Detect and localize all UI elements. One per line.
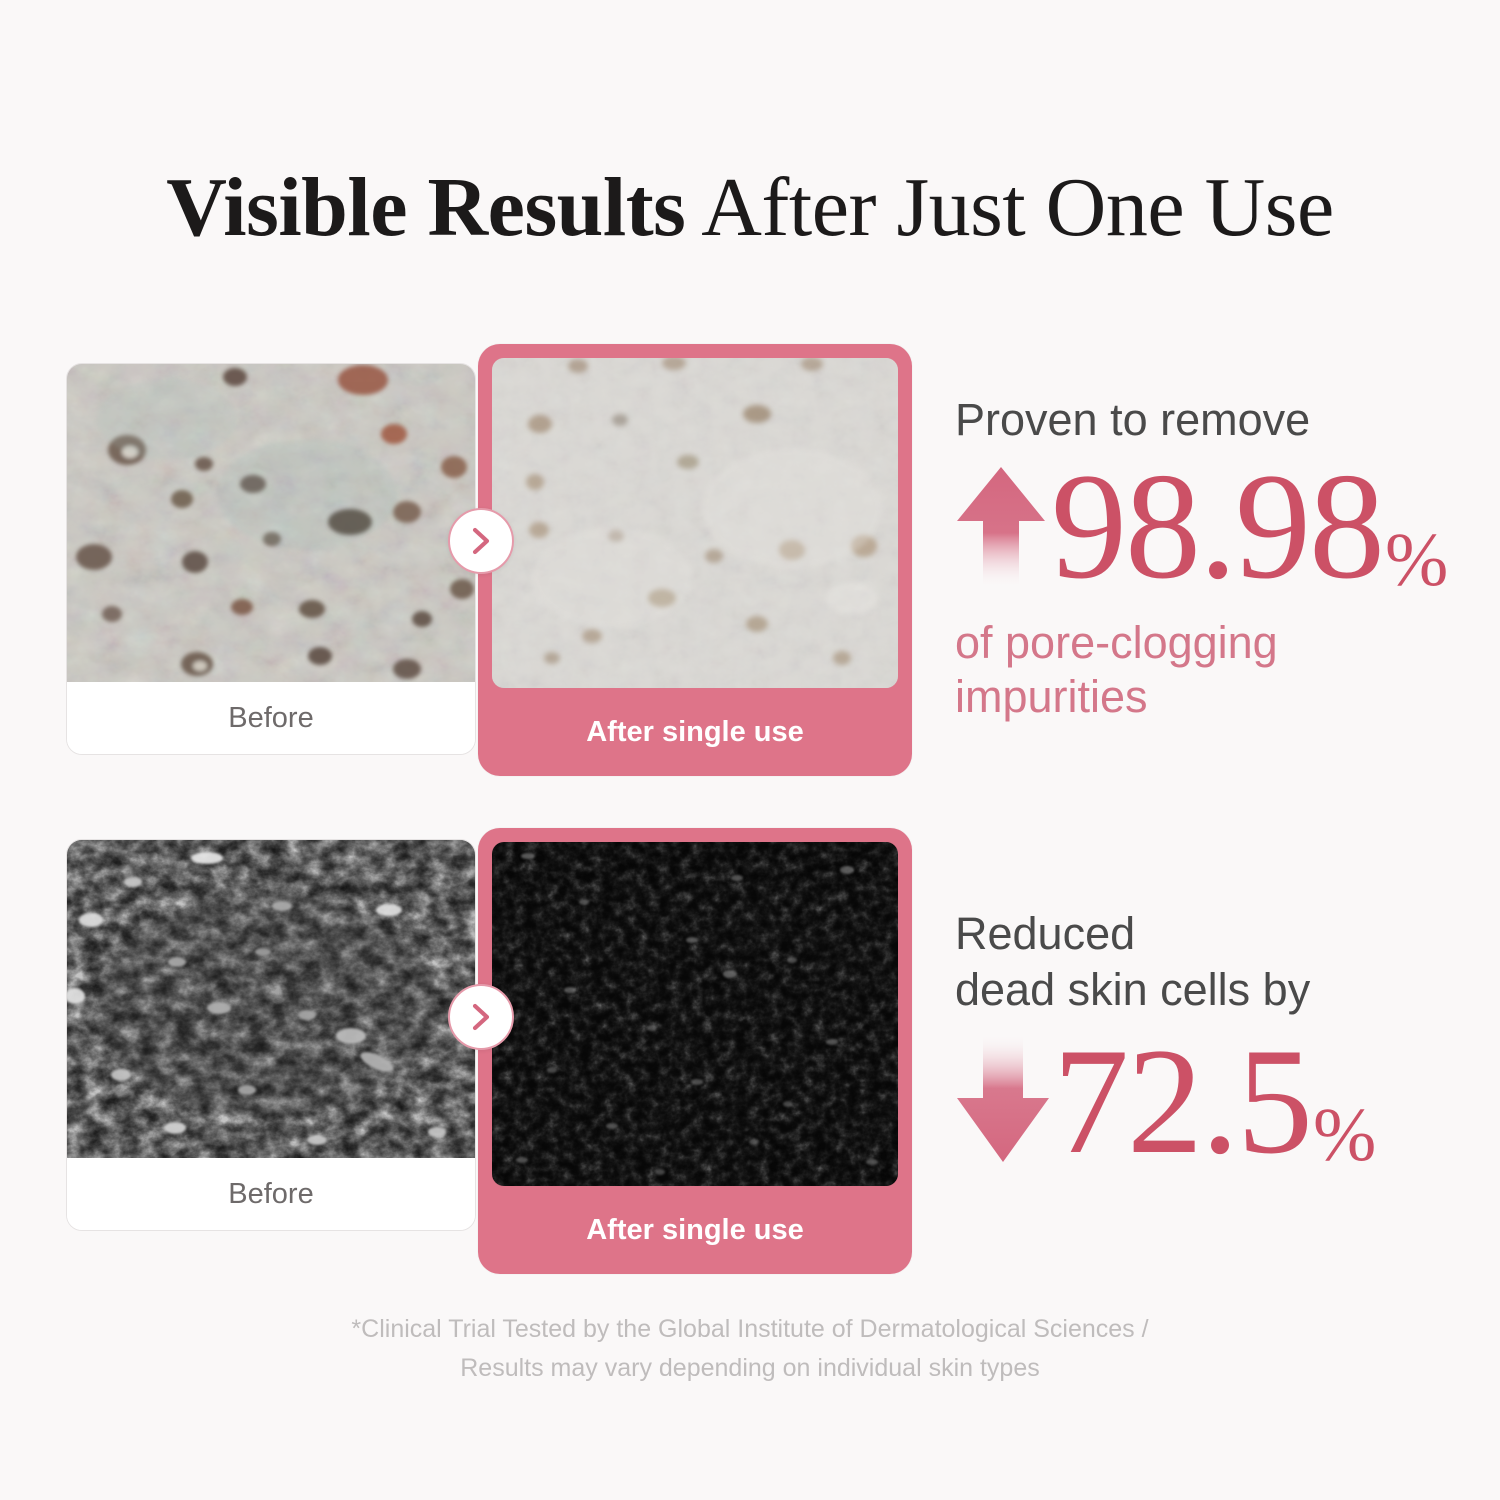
before-photo-1 [67, 364, 475, 684]
after-caption-1: After single use [478, 688, 912, 776]
before-card-1: Before [66, 363, 476, 755]
arrow-up-glyph [955, 465, 1047, 589]
infographic-root: Visible Results After Just One Use [0, 0, 1500, 1500]
stat-1-sub: of pore-clogging impurities [955, 616, 1465, 726]
stat-1-figure-row: 98.98 % [955, 460, 1465, 594]
stat-2-lead: Reduced dead skin cells by [955, 906, 1465, 1018]
stat-block-2: Reduced dead skin cells by 72.5 % [955, 906, 1465, 1169]
before-caption-2: Before [67, 1158, 475, 1230]
page-title: Visible Results After Just One Use [0, 165, 1500, 251]
before-caption-1: Before [67, 682, 475, 754]
after-photo-1 [492, 358, 898, 688]
stat-1-lead: Proven to remove [955, 392, 1465, 448]
dead-skin-uv-image-before [67, 840, 475, 1160]
stat-block-1: Proven to remove 98.98 % of pore-clogg [955, 392, 1465, 725]
after-caption-2: After single use [478, 1186, 912, 1274]
after-card-2: After single use [478, 828, 912, 1274]
chevron-right-glyph [468, 1002, 494, 1032]
pore-microscope-image-before [67, 364, 475, 684]
title-light: After Just One Use [685, 161, 1333, 254]
stat-1-unit: % [1385, 527, 1448, 594]
arrow-up-icon [955, 465, 1047, 594]
title-strong: Visible Results [166, 161, 685, 254]
stat-1-value: 98.98 [1051, 460, 1383, 594]
before-photo-2 [67, 840, 475, 1160]
chevron-right-icon[interactable] [448, 508, 514, 574]
pore-microscope-image-after [492, 358, 898, 688]
stat-2-figure-row: 72.5 % [955, 1032, 1465, 1169]
chevron-right-glyph [468, 526, 494, 556]
stat-2-unit: % [1313, 1102, 1376, 1169]
arrow-down-glyph [955, 1032, 1051, 1164]
before-card-2: Before [66, 839, 476, 1231]
arrow-down-icon [955, 1032, 1051, 1169]
stat-2-value: 72.5 [1053, 1035, 1311, 1169]
dead-skin-uv-image-after [492, 842, 898, 1186]
footnote: *Clinical Trial Tested by the Global Ins… [0, 1310, 1500, 1388]
after-card-1: After single use [478, 344, 912, 776]
chevron-right-icon[interactable] [448, 984, 514, 1050]
after-photo-2 [492, 842, 898, 1186]
